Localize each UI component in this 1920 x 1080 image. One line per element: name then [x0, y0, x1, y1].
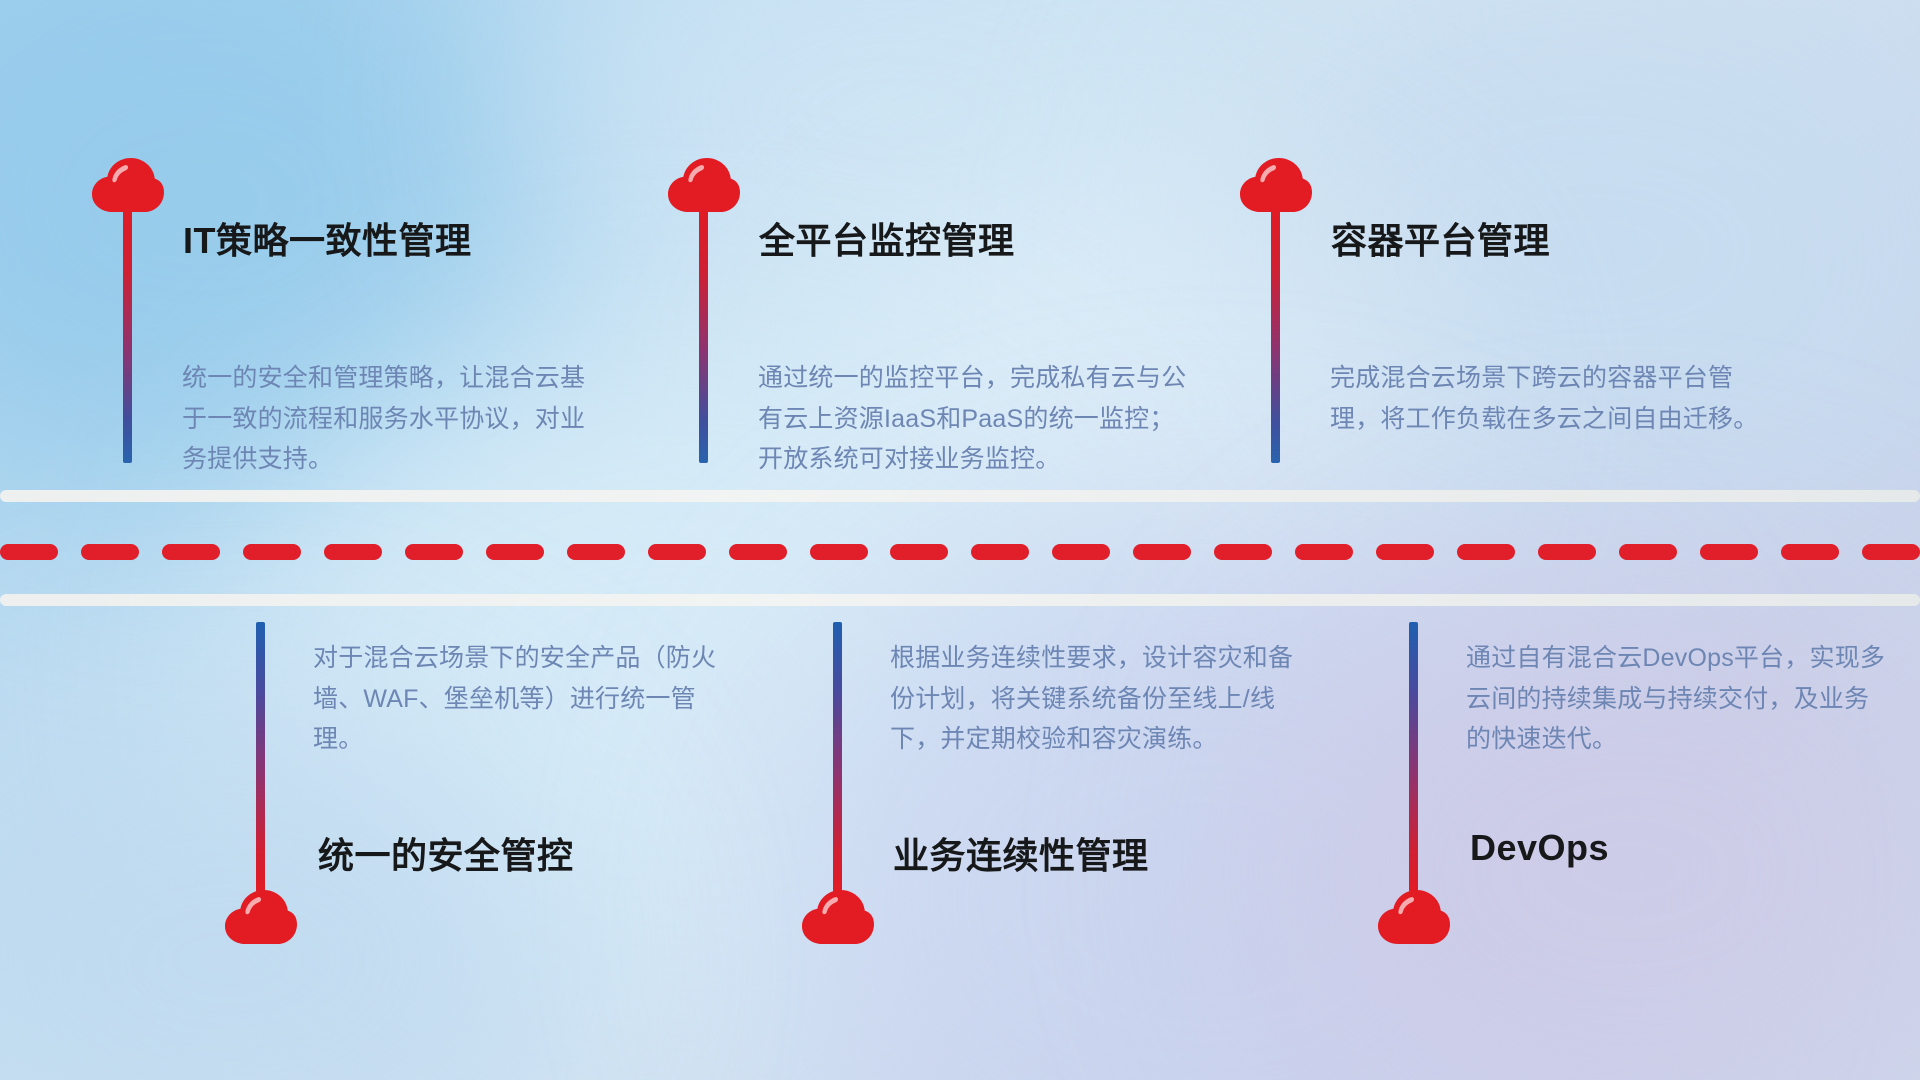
- stem-line: [123, 205, 132, 463]
- item-body: 通过自有混合云DevOps平台，实现多云间的持续集成与持续交付，及业务的快速迭代…: [1466, 638, 1886, 760]
- item-heading: 统一的安全管控: [318, 827, 574, 879]
- cloud-icon: [1378, 890, 1450, 945]
- stem-line: [1409, 622, 1418, 892]
- item-heading: IT策略一致性管理: [183, 212, 472, 264]
- item-body: 通过统一的监控平台，完成私有云与公有云上资源IaaS和PaaS的统一监控；开放系…: [758, 358, 1198, 480]
- stem-line: [833, 622, 842, 892]
- stem-line: [256, 622, 265, 892]
- item-heading: 容器平台管理: [1331, 212, 1550, 264]
- stem-line: [1271, 205, 1280, 463]
- item-heading: DevOps: [1470, 827, 1609, 869]
- item-heading: 业务连续性管理: [893, 827, 1149, 879]
- stem-line: [699, 205, 708, 463]
- cloud-icon: [225, 890, 297, 945]
- item-body: 统一的安全和管理策略，让混合云基于一致的流程和服务水平协议，对业务提供支持。: [182, 358, 602, 480]
- items-container: IT策略一致性管理 统一的安全和管理策略，让混合云基于一致的流程和服务水平协议，…: [0, 0, 1920, 1080]
- item-body: 对于混合云场景下的安全产品（防火墙、WAF、堡垒机等）进行统一管理。: [313, 638, 733, 760]
- item-heading: 全平台监控管理: [759, 212, 1015, 264]
- item-body: 完成混合云场景下跨云的容器平台管理，将工作负载在多云之间自由迁移。: [1330, 358, 1770, 439]
- cloud-icon: [802, 890, 874, 945]
- item-body: 根据业务连续性要求，设计容灾和备份计划，将关键系统备份至线上/线下，并定期校验和…: [890, 638, 1310, 760]
